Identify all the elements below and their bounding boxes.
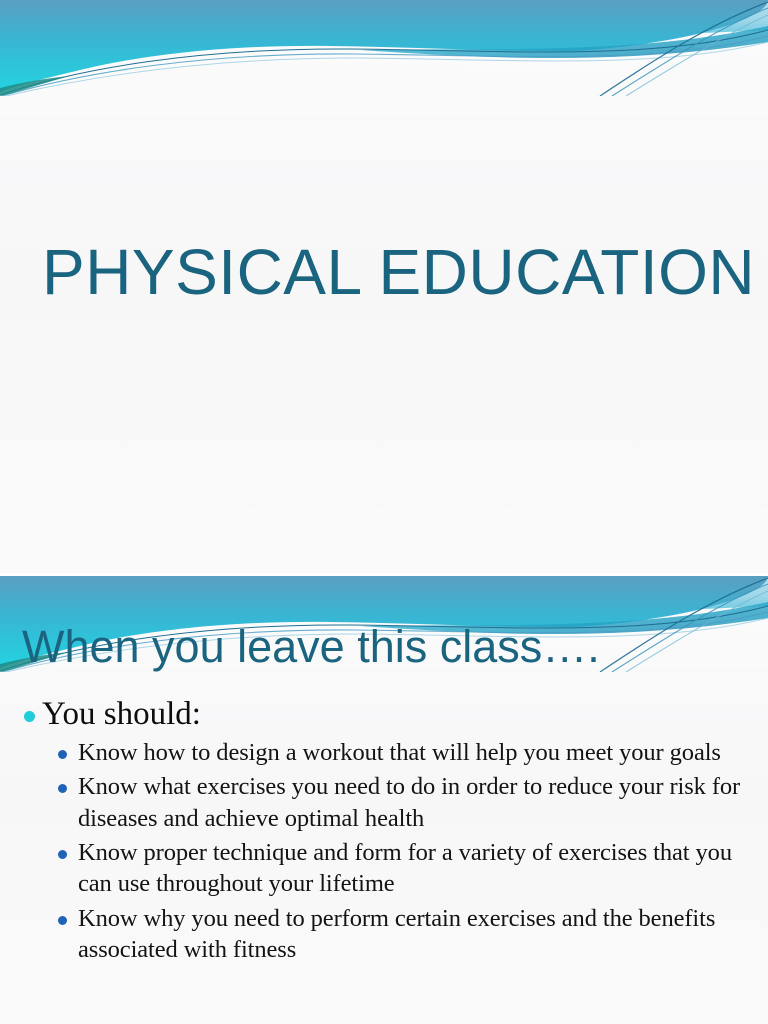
slide-divider bbox=[0, 573, 768, 576]
slide-1: PHYSICAL EDUCATION bbox=[0, 0, 768, 573]
bullet-level2-text: Know why you need to perform certain exe… bbox=[78, 903, 750, 966]
slide-deck: PHYSICAL EDUCATION bbox=[0, 0, 768, 1024]
bullet-level2: Know proper technique and form for a var… bbox=[0, 837, 768, 900]
bullet-dot-icon bbox=[58, 916, 67, 925]
bullet-level2-text: Know what exercises you need to do in or… bbox=[78, 771, 750, 834]
bullet-dot-icon bbox=[58, 750, 67, 759]
bullet-level2: Know what exercises you need to do in or… bbox=[0, 771, 768, 834]
bullet-level2-text: Know how to design a workout that will h… bbox=[78, 737, 721, 768]
slide-2-bullet-list: You should: Know how to design a workout… bbox=[0, 696, 768, 968]
slide-1-title: PHYSICAL EDUCATION bbox=[42, 238, 742, 307]
bullet-dot-icon bbox=[58, 784, 67, 793]
bullet-dot-icon bbox=[24, 711, 35, 722]
bullet-level2: Know why you need to perform certain exe… bbox=[0, 903, 768, 966]
bullet-level1-text: You should: bbox=[42, 696, 201, 733]
bullet-level1: You should: bbox=[0, 696, 768, 733]
bullet-level2-text: Know proper technique and form for a var… bbox=[78, 837, 750, 900]
bullet-level2: Know how to design a workout that will h… bbox=[0, 737, 768, 768]
bullet-dot-icon bbox=[58, 850, 67, 859]
wave-banner-top-slide-1 bbox=[0, 0, 768, 96]
slide-2-title: When you leave this class…. bbox=[22, 622, 600, 672]
